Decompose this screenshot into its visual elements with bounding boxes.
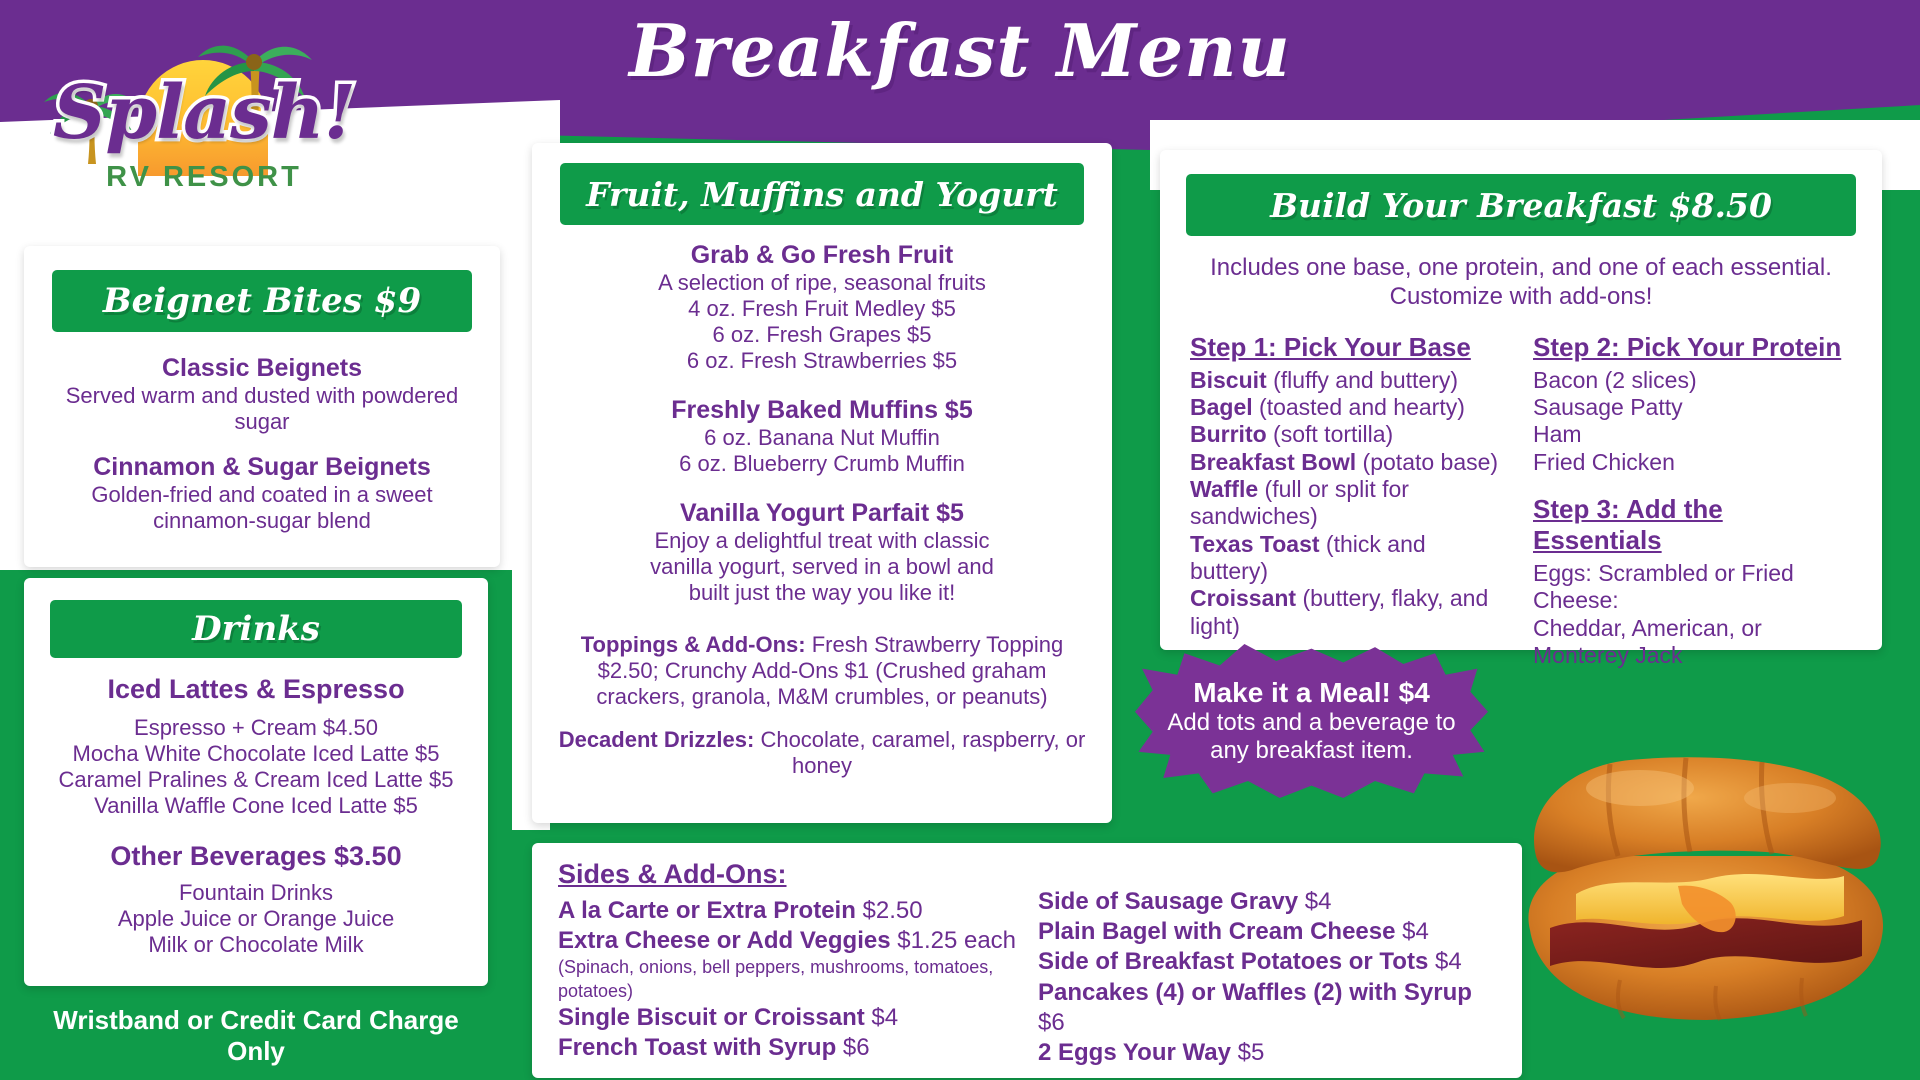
- drinks-group: Iced Lattes & Espresso Espresso + Cream …: [24, 674, 488, 819]
- side-item-price: $6: [836, 1034, 869, 1061]
- essentials-line: Eggs: Scrambled or Fried Cheese:: [1533, 560, 1852, 615]
- group-line: vanilla yogurt, served in a bowl and: [532, 554, 1112, 580]
- step3-heading: Step 3: Add the Essentials: [1533, 494, 1852, 556]
- group-line: 4 oz. Fresh Fruit Medley $5: [532, 296, 1112, 322]
- side-item-price: $2.50: [856, 897, 923, 924]
- protein-option: Sausage Patty: [1533, 394, 1852, 421]
- step1-column: Step 1: Pick Your Base Biscuit (fluffy a…: [1190, 332, 1509, 670]
- step1-heading: Step 1: Pick Your Base: [1190, 332, 1509, 363]
- base-option-desc: (soft tortilla): [1267, 421, 1394, 447]
- group-line: built just the way you like it!: [532, 580, 1112, 606]
- side-item-price: $4: [1395, 918, 1428, 945]
- side-item: French Toast with Syrup $6: [558, 1033, 1016, 1063]
- side-item-price: $4: [1298, 888, 1331, 915]
- logo-subtitle: RV RESORT: [34, 161, 374, 194]
- meal-badge-line: Add tots and a beverage to: [1167, 709, 1455, 737]
- drink-line: Milk or Chocolate Milk: [24, 932, 488, 958]
- veggie-note: (Spinach, onions, bell peppers, mushroom…: [558, 956, 1016, 1003]
- side-item: Side of Breakfast Potatoes or Tots $4: [1038, 947, 1496, 977]
- croissant-breakfast-sandwich-photo: [1490, 680, 1920, 1080]
- fruit-muffins-yogurt-card: Fruit, Muffins and Yogurt Grab & Go Fres…: [532, 143, 1112, 823]
- step2-heading: Step 2: Pick Your Protein: [1533, 332, 1852, 363]
- side-item-name: French Toast with Syrup: [558, 1034, 836, 1061]
- menu-group: Grab & Go Fresh Fruit A selection of rip…: [532, 241, 1112, 374]
- menu-item: Classic Beignets Served warm and dusted …: [24, 354, 500, 435]
- side-item: Single Biscuit or Croissant $4: [558, 1003, 1016, 1033]
- side-item-name: 2 Eggs Your Way: [1038, 1039, 1231, 1066]
- item-name: Cinnamon & Sugar Beignets: [44, 453, 480, 482]
- base-option: Breakfast Bowl (potato base): [1190, 449, 1509, 476]
- side-item-name: Side of Breakfast Potatoes or Tots: [1038, 948, 1428, 975]
- group-line: A selection of ripe, seasonal fruits: [532, 270, 1112, 296]
- essentials-line: Cheddar, American, or Monterey Jack: [1533, 615, 1852, 670]
- side-item-price: $4: [1428, 948, 1461, 975]
- side-item: Extra Cheese or Add Veggies $1.25 each: [558, 926, 1016, 956]
- base-option: Croissant (buttery, flaky, and light): [1190, 585, 1509, 640]
- base-option: Texas Toast (thick and buttery): [1190, 531, 1509, 586]
- base-option: Bagel (toasted and hearty): [1190, 394, 1509, 421]
- build-your-breakfast-card: Build Your Breakfast $8.50 Includes one …: [1160, 150, 1882, 650]
- group-line: 6 oz. Banana Nut Muffin: [532, 425, 1112, 451]
- group-heading: Grab & Go Fresh Fruit: [532, 241, 1112, 270]
- base-option-desc: (toasted and hearty): [1253, 394, 1465, 420]
- side-item-price: $5: [1231, 1039, 1264, 1066]
- menu-item: Cinnamon & Sugar Beignets Golden-fried a…: [24, 453, 500, 534]
- base-option: Waffle (full or split for sandwiches): [1190, 476, 1509, 531]
- menu-group: Vanilla Yogurt Parfait $5 Enjoy a deligh…: [532, 499, 1112, 606]
- base-option-name: Bagel: [1190, 394, 1253, 420]
- base-option-name: Biscuit: [1190, 367, 1267, 393]
- item-description: Golden-fried and coated in a sweet cinna…: [44, 482, 480, 534]
- build-intro: Includes one base, one protein, and one …: [1160, 254, 1882, 312]
- side-item-name: Pancakes (4) or Waffles (2) with Syrup: [1038, 979, 1472, 1006]
- sides-heading: Sides & Add-Ons:: [558, 859, 1016, 890]
- build-ribbon-title: Build Your Breakfast $8.50: [1186, 174, 1856, 236]
- toppings-label: Toppings & Add-Ons:: [581, 632, 806, 657]
- base-option: Biscuit (fluffy and buttery): [1190, 367, 1509, 394]
- side-item-name: A la Carte or Extra Protein: [558, 897, 856, 924]
- group-line: Enjoy a delightful treat with classic: [532, 528, 1112, 554]
- menu-group: Freshly Baked Muffins $5 6 oz. Banana Nu…: [532, 396, 1112, 477]
- drizzles-text: Chocolate, caramel, raspberry, or honey: [760, 727, 1085, 778]
- base-option: Burrito (soft tortilla): [1190, 421, 1509, 448]
- group-heading: Vanilla Yogurt Parfait $5: [532, 499, 1112, 528]
- group-line: 6 oz. Fresh Strawberries $5: [532, 348, 1112, 374]
- logo-wordmark: Splash!: [34, 70, 374, 156]
- drink-line: Espresso + Cream $4.50: [24, 715, 488, 741]
- drizzles-row: Decadent Drizzles: Chocolate, caramel, r…: [532, 727, 1112, 780]
- brand-logo: Splash! RV RESORT: [28, 18, 378, 238]
- base-option-desc: (fluffy and buttery): [1267, 367, 1458, 393]
- group-line: 6 oz. Blueberry Crumb Muffin: [532, 451, 1112, 477]
- side-item-name: Extra Cheese or Add Veggies: [558, 927, 891, 954]
- side-item: A la Carte or Extra Protein $2.50: [558, 896, 1016, 926]
- toppings-row: Toppings & Add-Ons: Fresh Strawberry Top…: [532, 632, 1112, 711]
- drink-line: Vanilla Waffle Cone Iced Latte $5: [24, 793, 488, 819]
- item-description: Served warm and dusted with powdered sug…: [48, 383, 476, 435]
- item-name: Classic Beignets: [48, 354, 476, 383]
- side-item-name: Side of Sausage Gravy: [1038, 888, 1298, 915]
- side-item-price: $4: [865, 1004, 898, 1031]
- sides-addons-card: Sides & Add-Ons: A la Carte or Extra Pro…: [532, 843, 1522, 1078]
- meal-badge-title: Make it a Meal! $4: [1193, 677, 1430, 709]
- side-item: 2 Eggs Your Way $5: [1038, 1038, 1496, 1068]
- side-item: Plain Bagel with Cream Cheese $4: [1038, 917, 1496, 947]
- drink-line: Caramel Pralines & Cream Iced Latte $5: [24, 767, 488, 793]
- drink-line: Fountain Drinks: [24, 880, 488, 906]
- sides-left-column: Sides & Add-Ons: A la Carte or Extra Pro…: [558, 859, 1016, 1068]
- drinks-ribbon-title: Drinks: [50, 600, 462, 658]
- group-heading: Iced Lattes & Espresso: [24, 674, 488, 705]
- group-heading: Freshly Baked Muffins $5: [532, 396, 1112, 425]
- base-option-name: Breakfast Bowl: [1190, 449, 1356, 475]
- protein-option: Ham: [1533, 421, 1852, 448]
- drink-line: Mocha White Chocolate Iced Latte $5: [24, 741, 488, 767]
- drinks-group: Other Beverages $3.50 Fountain Drinks Ap…: [24, 841, 488, 958]
- base-option-name: Burrito: [1190, 421, 1267, 447]
- build-intro-line: Customize with add-ons!: [1160, 283, 1882, 312]
- group-heading: Other Beverages $3.50: [24, 841, 488, 872]
- base-option-desc: (potato base): [1356, 449, 1498, 475]
- drizzles-label: Decadent Drizzles:: [559, 727, 755, 752]
- side-item: Pancakes (4) or Waffles (2) with Syrup $…: [1038, 978, 1496, 1038]
- meal-badge-line: any breakfast item.: [1210, 737, 1413, 765]
- fruit-ribbon-title: Fruit, Muffins and Yogurt: [560, 163, 1084, 225]
- protein-option: Bacon (2 slices): [1533, 367, 1852, 394]
- step2-step3-column: Step 2: Pick Your Protein Bacon (2 slice…: [1533, 332, 1852, 670]
- beignet-bites-card: Beignet Bites $9 Classic Beignets Served…: [24, 246, 500, 567]
- build-intro-line: Includes one base, one protein, and one …: [1160, 254, 1882, 283]
- side-item-name: Plain Bagel with Cream Cheese: [1038, 918, 1395, 945]
- side-item-price: $1.25 each: [891, 927, 1016, 954]
- group-line: 6 oz. Fresh Grapes $5: [532, 322, 1112, 348]
- base-option-name: Waffle: [1190, 476, 1258, 502]
- beignet-ribbon-title: Beignet Bites $9: [52, 270, 472, 332]
- drink-line: Apple Juice or Orange Juice: [24, 906, 488, 932]
- base-option-name: Texas Toast: [1190, 531, 1320, 557]
- side-item: Side of Sausage Gravy $4: [1038, 887, 1496, 917]
- base-option-name: Croissant: [1190, 585, 1296, 611]
- drinks-card: Drinks Iced Lattes & Espresso Espresso +…: [24, 578, 488, 986]
- protein-option: Fried Chicken: [1533, 449, 1852, 476]
- payment-note: Wristband or Credit Card Charge Only: [24, 1005, 488, 1067]
- sides-right-column: Side of Sausage Gravy $4 Plain Bagel wit…: [1016, 859, 1496, 1068]
- side-item-price: $6: [1038, 1009, 1065, 1036]
- side-item-name: Single Biscuit or Croissant: [558, 1004, 865, 1031]
